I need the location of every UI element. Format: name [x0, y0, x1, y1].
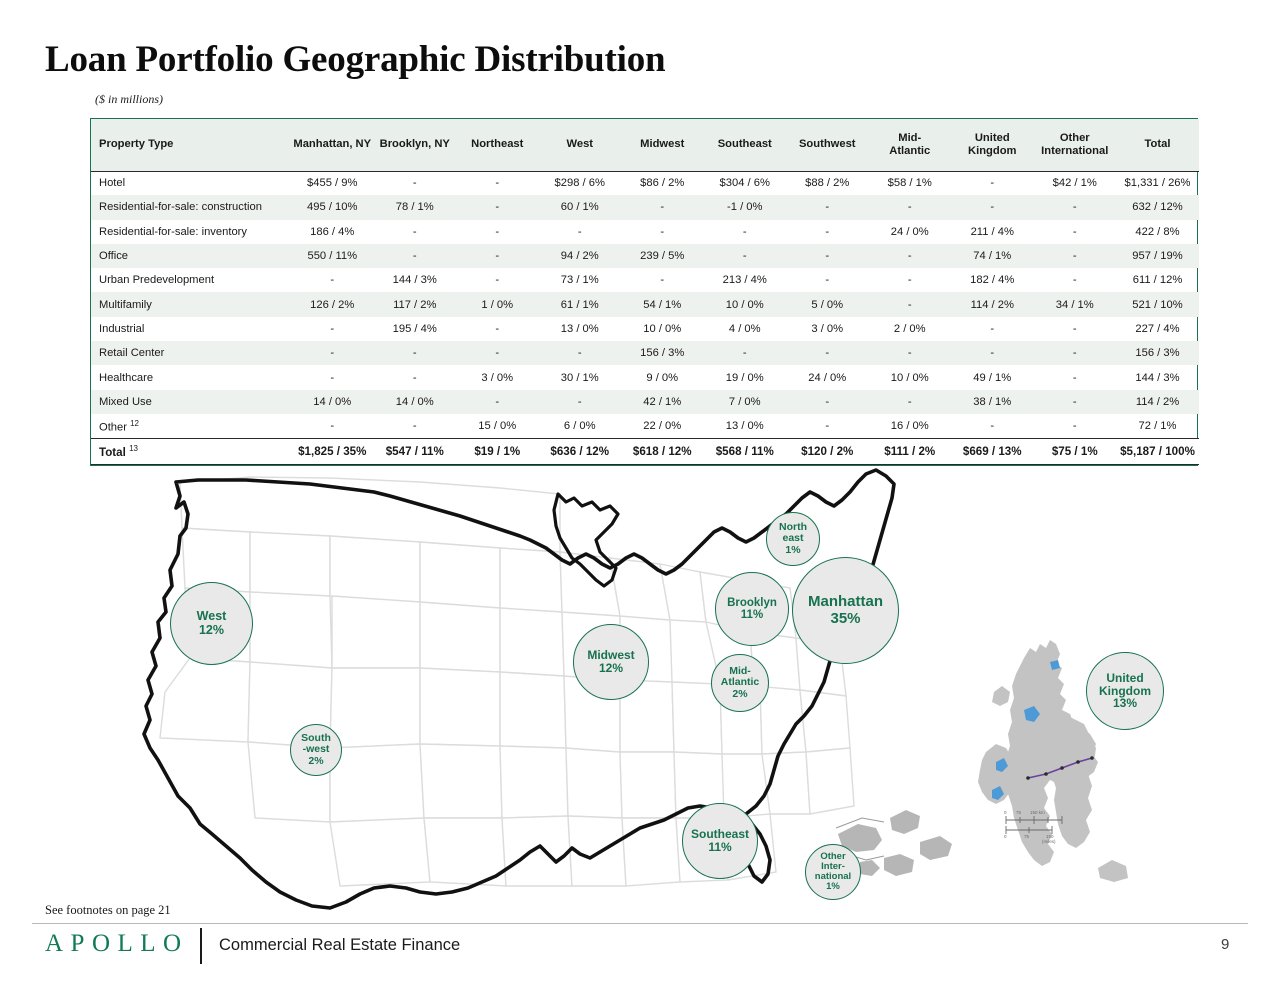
table-cell: -	[951, 414, 1034, 438]
total-cell: $120 / 2%	[786, 438, 869, 464]
bubble-northeast-percent: 1%	[785, 545, 800, 556]
total-cell: $1,825 / 35%	[291, 438, 374, 464]
table-cell: -	[539, 220, 622, 244]
bubble-southeast-percent: 11%	[708, 841, 731, 854]
bubble-midwest[interactable]: Midwest 12%	[573, 624, 649, 700]
row-label: Office	[91, 244, 291, 268]
table-row: Multifamily126 / 2%117 / 2%1 / 0%61 / 1%…	[91, 292, 1199, 316]
row-footnote-marker: 12	[130, 419, 139, 428]
column-header-manhattan: Manhattan, NY	[291, 119, 374, 171]
table-cell: $42 / 1%	[1034, 171, 1117, 195]
table-cell: -	[786, 244, 869, 268]
row-label: Multifamily	[91, 292, 291, 316]
total-cell: $5,187 / 100%	[1116, 438, 1199, 464]
table-cell: -	[456, 268, 539, 292]
svg-text:75: 75	[1024, 834, 1030, 839]
table-row: Mixed Use14 / 0%14 / 0%--42 / 1%7 / 0%--…	[91, 390, 1199, 414]
table-cell: $455 / 9%	[291, 171, 374, 195]
table-cell: -	[869, 244, 952, 268]
table-cell: -	[621, 268, 704, 292]
table-cell: 54 / 1%	[621, 292, 704, 316]
table-cell: -	[704, 220, 787, 244]
svg-text:0: 0	[1004, 810, 1007, 815]
table-cell: $298 / 6%	[539, 171, 622, 195]
table-cell: -	[374, 220, 457, 244]
column-header-midwest: Midwest	[621, 119, 704, 171]
table-cell: 5 / 0%	[786, 292, 869, 316]
bubble-west-percent: 12%	[199, 624, 224, 638]
table-cell: -	[374, 414, 457, 438]
table-cell: -	[786, 341, 869, 365]
bubble-brooklyn-label: Brooklyn	[727, 597, 777, 609]
table-cell: -	[456, 171, 539, 195]
table-cell: 30 / 1%	[539, 365, 622, 389]
total-cell: $568 / 11%	[704, 438, 787, 464]
row-label: Residential-for-sale: construction	[91, 195, 291, 219]
table-cell: 611 / 12%	[1116, 268, 1199, 292]
table-cell: 60 / 1%	[539, 195, 622, 219]
table-cell: -	[1034, 220, 1117, 244]
row-label: Other 12	[91, 414, 291, 438]
table-cell: -	[1034, 268, 1117, 292]
bubble-mid-atlantic[interactable]: Mid- Atlantic 2%	[711, 654, 769, 712]
table-cell: 126 / 2%	[291, 292, 374, 316]
table-cell: 182 / 4%	[951, 268, 1034, 292]
distribution-table: Property Type Manhattan, NY Brooklyn, NY…	[91, 119, 1199, 465]
row-label: Residential-for-sale: inventory	[91, 220, 291, 244]
table-cell: 186 / 4%	[291, 220, 374, 244]
table-cell: -	[456, 220, 539, 244]
table-cell: -	[1034, 341, 1117, 365]
table-cell: 632 / 12%	[1116, 195, 1199, 219]
column-header-west: West	[539, 119, 622, 171]
table-cell: 9 / 0%	[621, 365, 704, 389]
bubble-manhattan-label: Manhattan	[808, 594, 883, 610]
bubble-uk-percent: 13%	[1113, 697, 1137, 710]
table-cell: 42 / 1%	[621, 390, 704, 414]
bubble-northeast-label-2: east	[782, 533, 803, 544]
table-cell: 10 / 0%	[869, 365, 952, 389]
table-cell: 156 / 3%	[621, 341, 704, 365]
table-cell: -	[1034, 195, 1117, 219]
table-cell: 10 / 0%	[621, 317, 704, 341]
table-cell: -	[374, 244, 457, 268]
table-cell: 211 / 4%	[951, 220, 1034, 244]
table-cell: $88 / 2%	[786, 171, 869, 195]
total-cell: $75 / 1%	[1034, 438, 1117, 464]
table-cell: 550 / 11%	[291, 244, 374, 268]
table-cell: -	[456, 317, 539, 341]
table-cell: 117 / 2%	[374, 292, 457, 316]
total-cell: $636 / 12%	[539, 438, 622, 464]
total-cell: $111 / 2%	[869, 438, 952, 464]
table-row: Other 12--15 / 0%6 / 0%22 / 0%13 / 0%-16…	[91, 414, 1199, 438]
table-cell: 4 / 0%	[704, 317, 787, 341]
table-cell: -	[374, 341, 457, 365]
column-header-southeast: Southeast	[704, 119, 787, 171]
table-cell: $86 / 2%	[621, 171, 704, 195]
table-cell: -	[786, 390, 869, 414]
units-note: ($ in millions)	[95, 92, 163, 107]
table-cell: -	[951, 341, 1034, 365]
table-cell: 7 / 0%	[704, 390, 787, 414]
table-cell: 213 / 4%	[704, 268, 787, 292]
table-cell: 14 / 0%	[374, 390, 457, 414]
bubble-uk-label-1: United	[1106, 672, 1143, 685]
bubble-midwest-percent: 12%	[599, 662, 623, 675]
table-cell: -	[869, 268, 952, 292]
table-cell: 239 / 5%	[621, 244, 704, 268]
table-header-row: Property Type Manhattan, NY Brooklyn, NY…	[91, 119, 1199, 171]
total-label: Total 13	[91, 438, 291, 464]
table-cell: 156 / 3%	[1116, 341, 1199, 365]
column-header-united-kingdom: UnitedKingdom	[951, 119, 1034, 171]
table-cell: 10 / 0%	[704, 292, 787, 316]
row-label: Urban Predevelopment	[91, 268, 291, 292]
footer-divider	[32, 923, 1248, 924]
row-label: Retail Center	[91, 341, 291, 365]
table-row: Office550 / 11%--94 / 2%239 / 5%---74 / …	[91, 244, 1199, 268]
bubble-southwest[interactable]: South -west 2%	[290, 724, 342, 776]
bubble-united-kingdom[interactable]: United Kingdom 13%	[1086, 652, 1164, 730]
table-cell: -	[456, 244, 539, 268]
table-cell: 13 / 0%	[539, 317, 622, 341]
bubble-southwest-label-2: -west	[303, 744, 330, 755]
table-row: Hotel$455 / 9%--$298 / 6%$86 / 2%$304 / …	[91, 171, 1199, 195]
table-cell: -	[539, 390, 622, 414]
bubble-west-label: West	[197, 610, 227, 624]
table-cell: 114 / 2%	[1116, 390, 1199, 414]
column-header-mid-atlantic: Mid-Atlantic	[869, 119, 952, 171]
bubble-mid-atlantic-label-2: Atlantic	[721, 677, 760, 688]
bubble-other-intl-percent: 1%	[826, 882, 840, 892]
table-cell: 14 / 0%	[291, 390, 374, 414]
bubble-southwest-percent: 2%	[308, 756, 323, 767]
table-cell: -	[1034, 390, 1117, 414]
table-cell: -	[374, 365, 457, 389]
column-header-other-international: OtherInternational	[1034, 119, 1117, 171]
table-cell: -	[786, 220, 869, 244]
bubble-mid-atlantic-percent: 2%	[732, 689, 747, 700]
table-row: Residential-for-sale: inventory186 / 4%-…	[91, 220, 1199, 244]
column-header-brooklyn: Brooklyn, NY	[374, 119, 457, 171]
table-cell: 144 / 3%	[1116, 365, 1199, 389]
table-cell: 49 / 1%	[951, 365, 1034, 389]
svg-text:0: 0	[1004, 834, 1007, 839]
table-cell: $304 / 6%	[704, 171, 787, 195]
table-cell: 78 / 1%	[374, 195, 457, 219]
table-cell: 74 / 1%	[951, 244, 1034, 268]
table-cell: 227 / 4%	[1116, 317, 1199, 341]
table-cell: 114 / 2%	[951, 292, 1034, 316]
map-area: 075150 km 075150 (miles) West 12% South …	[0, 462, 1280, 912]
bubble-brooklyn[interactable]: Brooklyn 11%	[715, 572, 789, 646]
table-body: Hotel$455 / 9%--$298 / 6%$86 / 2%$304 / …	[91, 171, 1199, 464]
table-cell: 61 / 1%	[539, 292, 622, 316]
total-cell: $669 / 13%	[951, 438, 1034, 464]
table-cell: 195 / 4%	[374, 317, 457, 341]
table-cell: -	[869, 292, 952, 316]
table-cell: -	[951, 317, 1034, 341]
column-header-southwest: Southwest	[786, 119, 869, 171]
table-cell: -	[704, 244, 787, 268]
bubble-manhattan-percent: 35%	[830, 611, 860, 627]
table-cell: -	[456, 341, 539, 365]
total-cell: $19 / 1%	[456, 438, 539, 464]
table-row: Industrial-195 / 4%-13 / 0%10 / 0%4 / 0%…	[91, 317, 1199, 341]
footnote-reference: See footnotes on page 21	[45, 903, 171, 918]
table-cell: 495 / 10%	[291, 195, 374, 219]
column-header-property-type: Property Type	[91, 119, 291, 171]
row-label: Healthcare	[91, 365, 291, 389]
table-cell: 22 / 0%	[621, 414, 704, 438]
table-cell: 94 / 2%	[539, 244, 622, 268]
table-cell: 144 / 3%	[374, 268, 457, 292]
table-cell: -	[456, 390, 539, 414]
table-cell: 521 / 10%	[1116, 292, 1199, 316]
svg-text:75: 75	[1016, 810, 1022, 815]
logo-divider	[200, 928, 202, 964]
bubble-southeast[interactable]: Southeast 11%	[682, 803, 758, 879]
column-header-total: Total	[1116, 119, 1199, 171]
table-cell: -	[869, 390, 952, 414]
table-cell: $1,331 / 26%	[1116, 171, 1199, 195]
table-cell: -	[374, 171, 457, 195]
table-cell: $58 / 1%	[869, 171, 952, 195]
svg-text:(miles): (miles)	[1042, 839, 1056, 844]
row-label: Mixed Use	[91, 390, 291, 414]
row-label: Hotel	[91, 171, 291, 195]
table-cell: -	[621, 195, 704, 219]
distribution-table-container: Property Type Manhattan, NY Brooklyn, NY…	[90, 118, 1198, 466]
table-cell: -	[786, 414, 869, 438]
table-cell: 2 / 0%	[869, 317, 952, 341]
table-cell: -	[786, 195, 869, 219]
apollo-logo: APOLLO	[45, 930, 189, 958]
table-row: Healthcare--3 / 0%30 / 1%9 / 0%19 / 0%24…	[91, 365, 1199, 389]
table-cell: 38 / 1%	[951, 390, 1034, 414]
bubble-manhattan[interactable]: Manhattan 35%	[792, 557, 899, 664]
table-cell: 1 / 0%	[456, 292, 539, 316]
bubble-northeast[interactable]: North east 1%	[766, 512, 820, 566]
table-cell: 3 / 0%	[456, 365, 539, 389]
table-cell: 72 / 1%	[1116, 414, 1199, 438]
page-number: 9	[1221, 936, 1229, 953]
table-cell: -	[951, 171, 1034, 195]
column-header-northeast: Northeast	[456, 119, 539, 171]
table-cell: 24 / 0%	[869, 220, 952, 244]
bubble-other-international[interactable]: Other Inter- national 1%	[805, 844, 861, 900]
table-cell: 19 / 0%	[704, 365, 787, 389]
table-cell: -	[621, 220, 704, 244]
row-label: Industrial	[91, 317, 291, 341]
table-cell: 6 / 0%	[539, 414, 622, 438]
total-footnote-marker: 13	[129, 444, 138, 453]
table-cell: 3 / 0%	[786, 317, 869, 341]
total-cell: $618 / 12%	[621, 438, 704, 464]
table-cell: -	[291, 317, 374, 341]
total-cell: $547 / 11%	[374, 438, 457, 464]
table-cell: -	[704, 341, 787, 365]
table-cell: 24 / 0%	[786, 365, 869, 389]
table-cell: -	[869, 195, 952, 219]
table-cell: -	[1034, 244, 1117, 268]
table-cell: 34 / 1%	[1034, 292, 1117, 316]
svg-text:150 km: 150 km	[1030, 810, 1045, 815]
table-cell: 73 / 1%	[539, 268, 622, 292]
table-cell: 16 / 0%	[869, 414, 952, 438]
table-cell: -	[291, 341, 374, 365]
table-cell: -1 / 0%	[704, 195, 787, 219]
table-total-row: Total 13$1,825 / 35%$547 / 11%$19 / 1%$6…	[91, 438, 1199, 464]
table-cell: -	[291, 414, 374, 438]
table-cell: -	[539, 341, 622, 365]
page-title: Loan Portfolio Geographic Distribution	[45, 38, 665, 81]
footer-tagline: Commercial Real Estate Finance	[219, 936, 460, 955]
table-cell: 15 / 0%	[456, 414, 539, 438]
table-cell: 422 / 8%	[1116, 220, 1199, 244]
table-cell: -	[291, 365, 374, 389]
table-row: Residential-for-sale: construction495 / …	[91, 195, 1199, 219]
table-cell: -	[456, 195, 539, 219]
table-cell: -	[291, 268, 374, 292]
table-cell: -	[1034, 365, 1117, 389]
table-cell: -	[869, 341, 952, 365]
table-cell: 957 / 19%	[1116, 244, 1199, 268]
table-cell: 13 / 0%	[704, 414, 787, 438]
slide: Loan Portfolio Geographic Distribution (…	[0, 0, 1280, 989]
table-cell: -	[1034, 414, 1117, 438]
table-row: Urban Predevelopment-144 / 3%-73 / 1%-21…	[91, 268, 1199, 292]
bubble-west[interactable]: West 12%	[170, 582, 253, 665]
bubble-brooklyn-percent: 11%	[741, 609, 763, 621]
table-cell: -	[786, 268, 869, 292]
table-cell: -	[951, 195, 1034, 219]
table-cell: -	[1034, 317, 1117, 341]
table-row: Retail Center----156 / 3%-----156 / 3%	[91, 341, 1199, 365]
table-header: Property Type Manhattan, NY Brooklyn, NY…	[91, 119, 1199, 171]
